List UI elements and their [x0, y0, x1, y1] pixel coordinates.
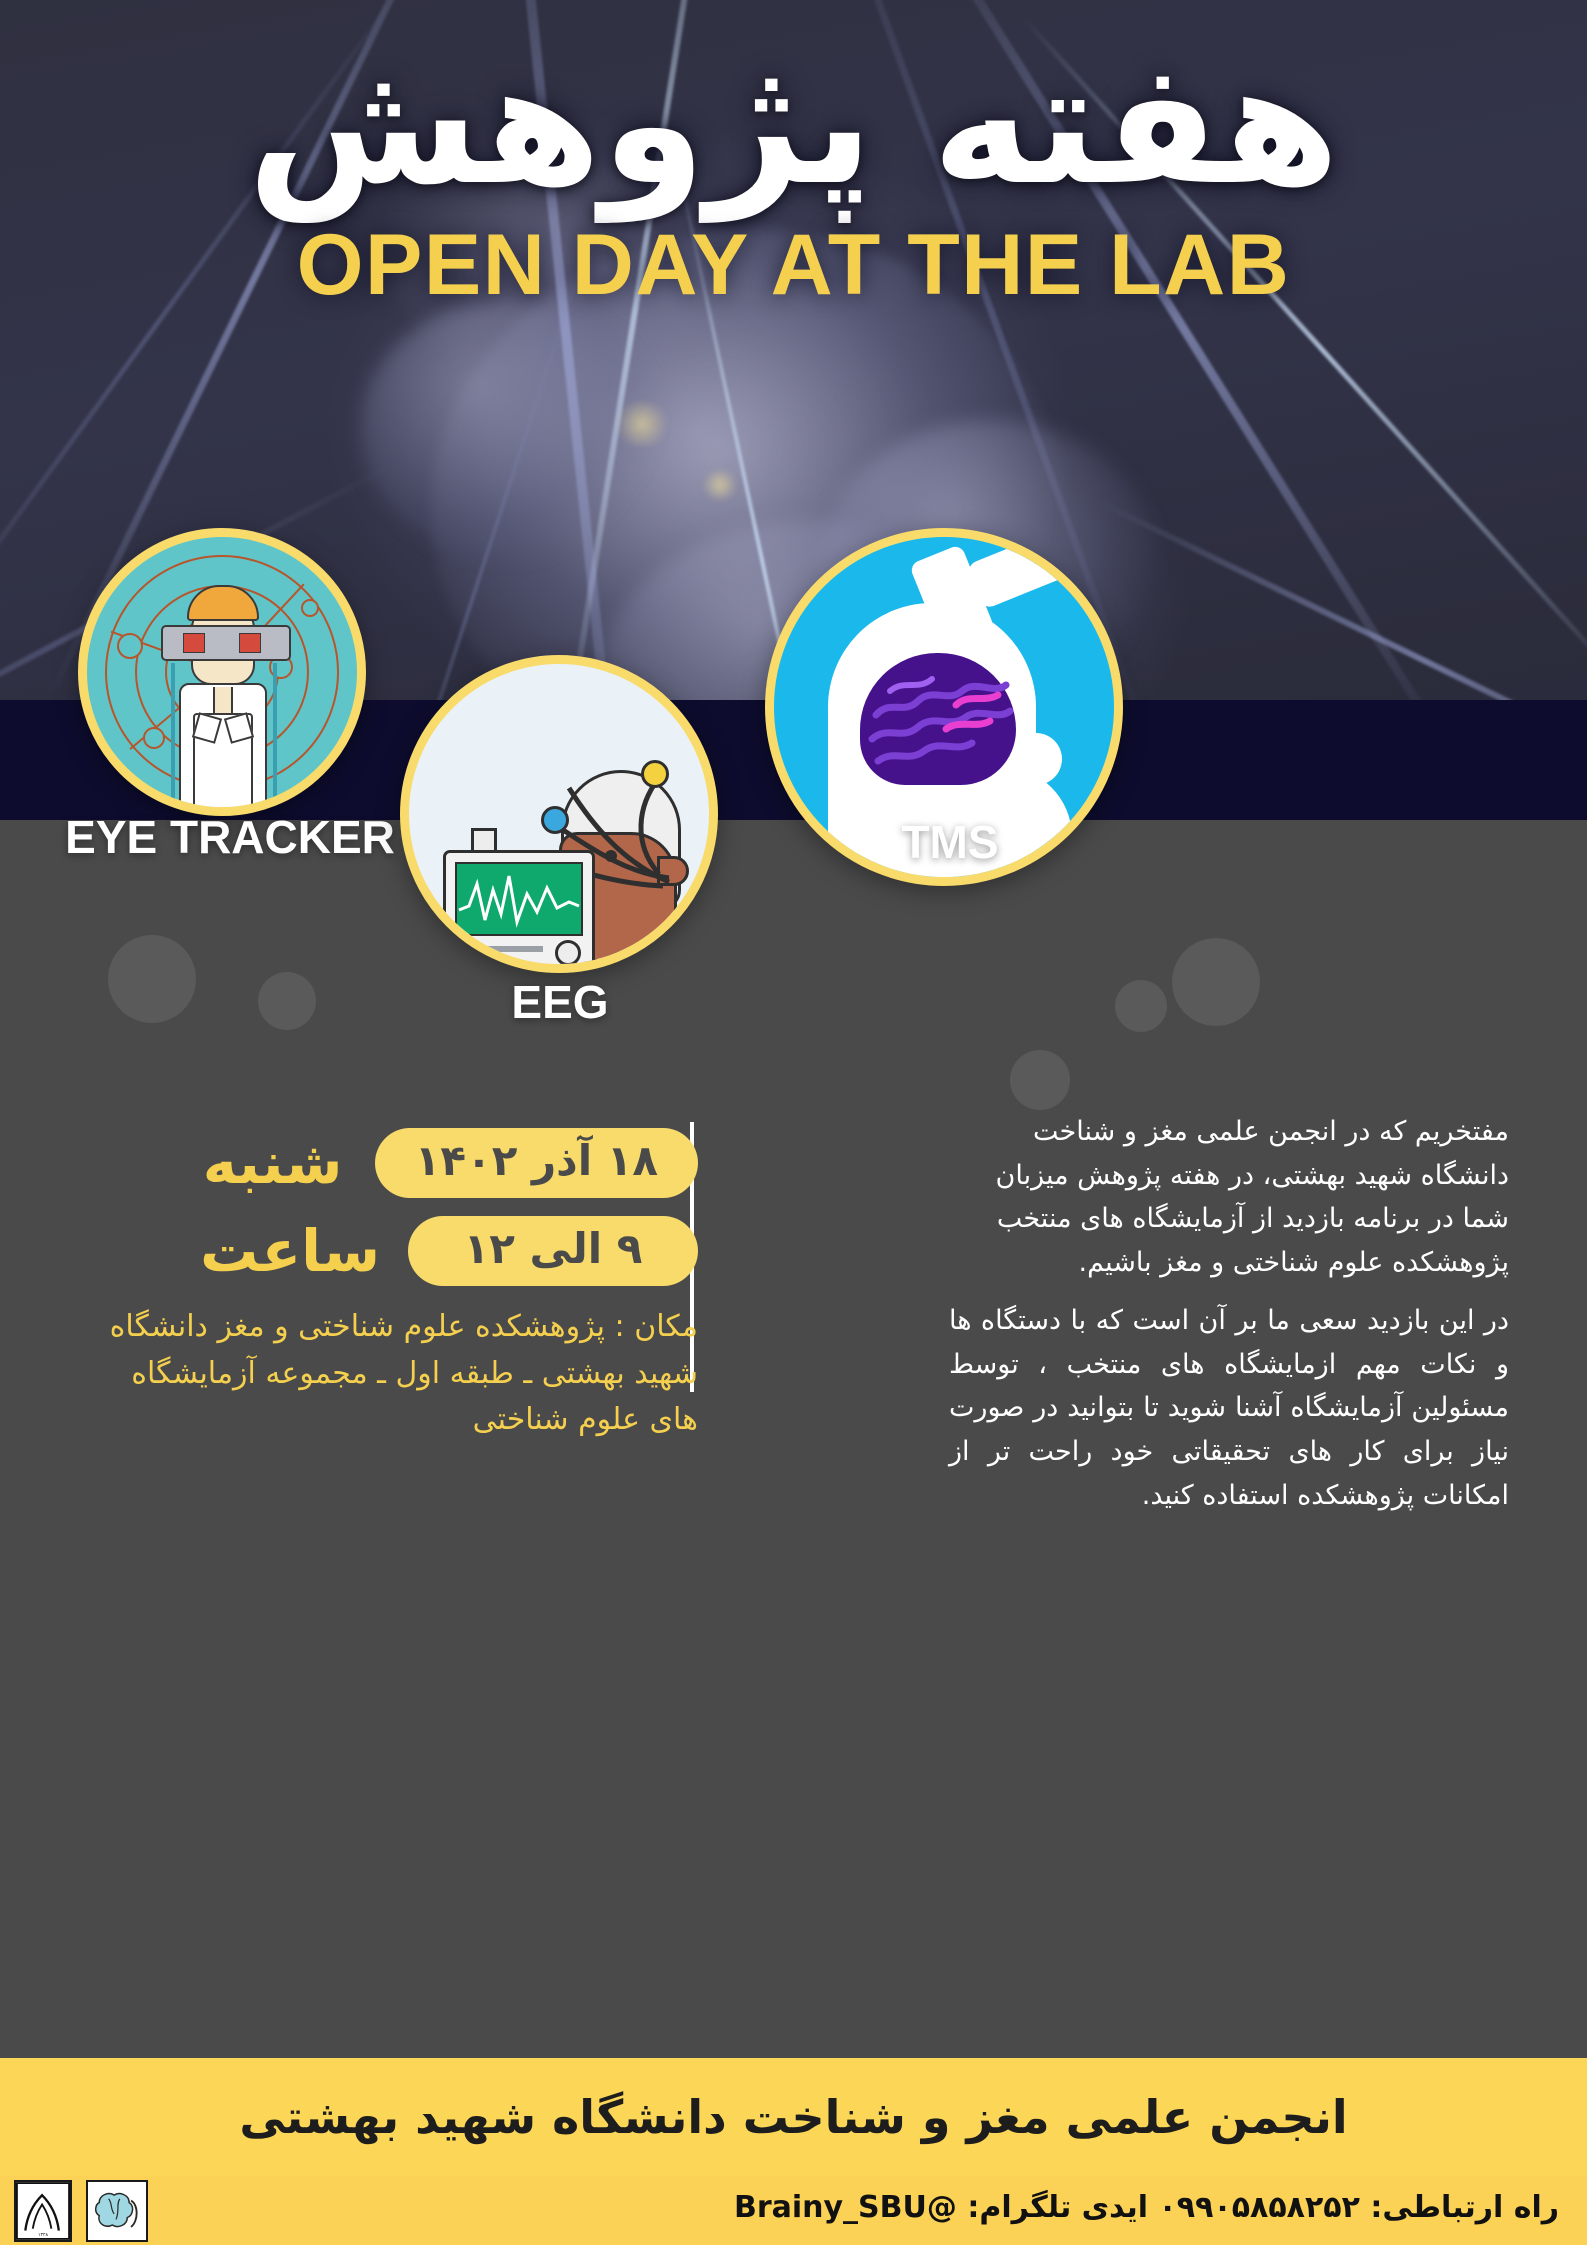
svg-text:۱۳۲۸: ۱۳۲۸ [38, 2232, 48, 2238]
association-brain-logo [86, 2180, 148, 2242]
sbu-logo-glyph: ۱۳۲۸ [16, 2182, 70, 2240]
neuron-highlight-dot [700, 470, 740, 500]
description-paragraph-1: مفتخریم که در انجمن علمی مغز و شناخت دان… [949, 1110, 1509, 1285]
eye-tracker-label: EYE TRACKER [0, 810, 460, 864]
eeg-monitor-slot [457, 946, 543, 952]
brain-logo-glyph [88, 2182, 146, 2240]
eeg-icon[interactable] [400, 655, 718, 973]
description-paragraph-2: در این بازدید سعی ما بر آن است که با دست… [949, 1299, 1509, 1518]
tms-brain-folds [860, 653, 1016, 785]
footer-bar: ۱۳۲۸ راه ارتباطی: ۰۹۹۰۵۸۵۸۲۵۲ ایدی تلگرا… [0, 2176, 1587, 2245]
eye-tracker-frame-line [171, 663, 175, 813]
sbu-university-logo: ۱۳۲۸ [14, 2180, 72, 2242]
time-pill: ۹ الی ۱۲ [408, 1216, 698, 1286]
date-pill: ۱۸ آذر ۱۴۰۲ [375, 1128, 698, 1198]
tms-nose-silhouette [1010, 733, 1062, 785]
decor-circle [258, 972, 316, 1030]
date-label: شنبه [203, 1134, 353, 1192]
decor-circle [1115, 980, 1167, 1032]
eeg-electrode [641, 760, 669, 788]
contact-info: راه ارتباطی: ۰۹۹۰۵۸۵۸۲۵۲ ایدی تلگرام: @B… [734, 2190, 1559, 2225]
eye-tracker-node [301, 599, 319, 617]
schedule-block: ۱۸ آذر ۱۴۰۲ شنبه ۹ الی ۱۲ ساعت مکان : پژ… [58, 1128, 698, 1444]
page-title-persian: هفته پژوهش [0, 22, 1587, 227]
eye-tracker-sensor-right [239, 633, 261, 653]
venue-text: مکان : پژوهشکده علوم شناختی و مغز دانشگا… [98, 1304, 698, 1444]
time-label: ساعت [236, 1222, 386, 1280]
eye-tracker-sensor-left [183, 633, 205, 653]
organization-name: انجمن علمی مغز و شناخت دانشگاه شهید بهشت… [239, 2090, 1347, 2144]
eeg-electrode [541, 806, 569, 834]
decor-circle [1172, 938, 1260, 1026]
schedule-date-row: ۱۸ آذر ۱۴۰۲ شنبه [58, 1128, 698, 1198]
poster-root: هفته پژوهش OPEN DAY AT THE LAB EYE TRACK… [0, 0, 1587, 2245]
decor-circle [1010, 1050, 1070, 1110]
eeg-monitor-knob [555, 940, 581, 966]
schedule-time-row: ۹ الی ۱۲ ساعت [58, 1216, 698, 1286]
eye-tracker-icon[interactable] [78, 528, 366, 816]
tms-coil-head [965, 528, 1087, 610]
eeg-label: EEG [380, 975, 740, 1029]
page-title-english: OPEN DAY AT THE LAB [0, 222, 1587, 308]
organization-banner: انجمن علمی مغز و شناخت دانشگاه شهید بهشت… [0, 2058, 1587, 2176]
decor-circle [108, 935, 196, 1023]
eye-tracker-headset [161, 625, 291, 661]
eye-tracker-frame-line [273, 663, 277, 813]
eye-tracker-node [143, 727, 165, 749]
tms-label: TMS [780, 815, 1120, 869]
eye-tracker-node [117, 633, 143, 659]
eeg-waveform [457, 864, 581, 934]
description-block: مفتخریم که در انجمن علمی مغز و شناخت دان… [949, 1110, 1509, 1532]
neuron-highlight-dot [612, 402, 672, 446]
